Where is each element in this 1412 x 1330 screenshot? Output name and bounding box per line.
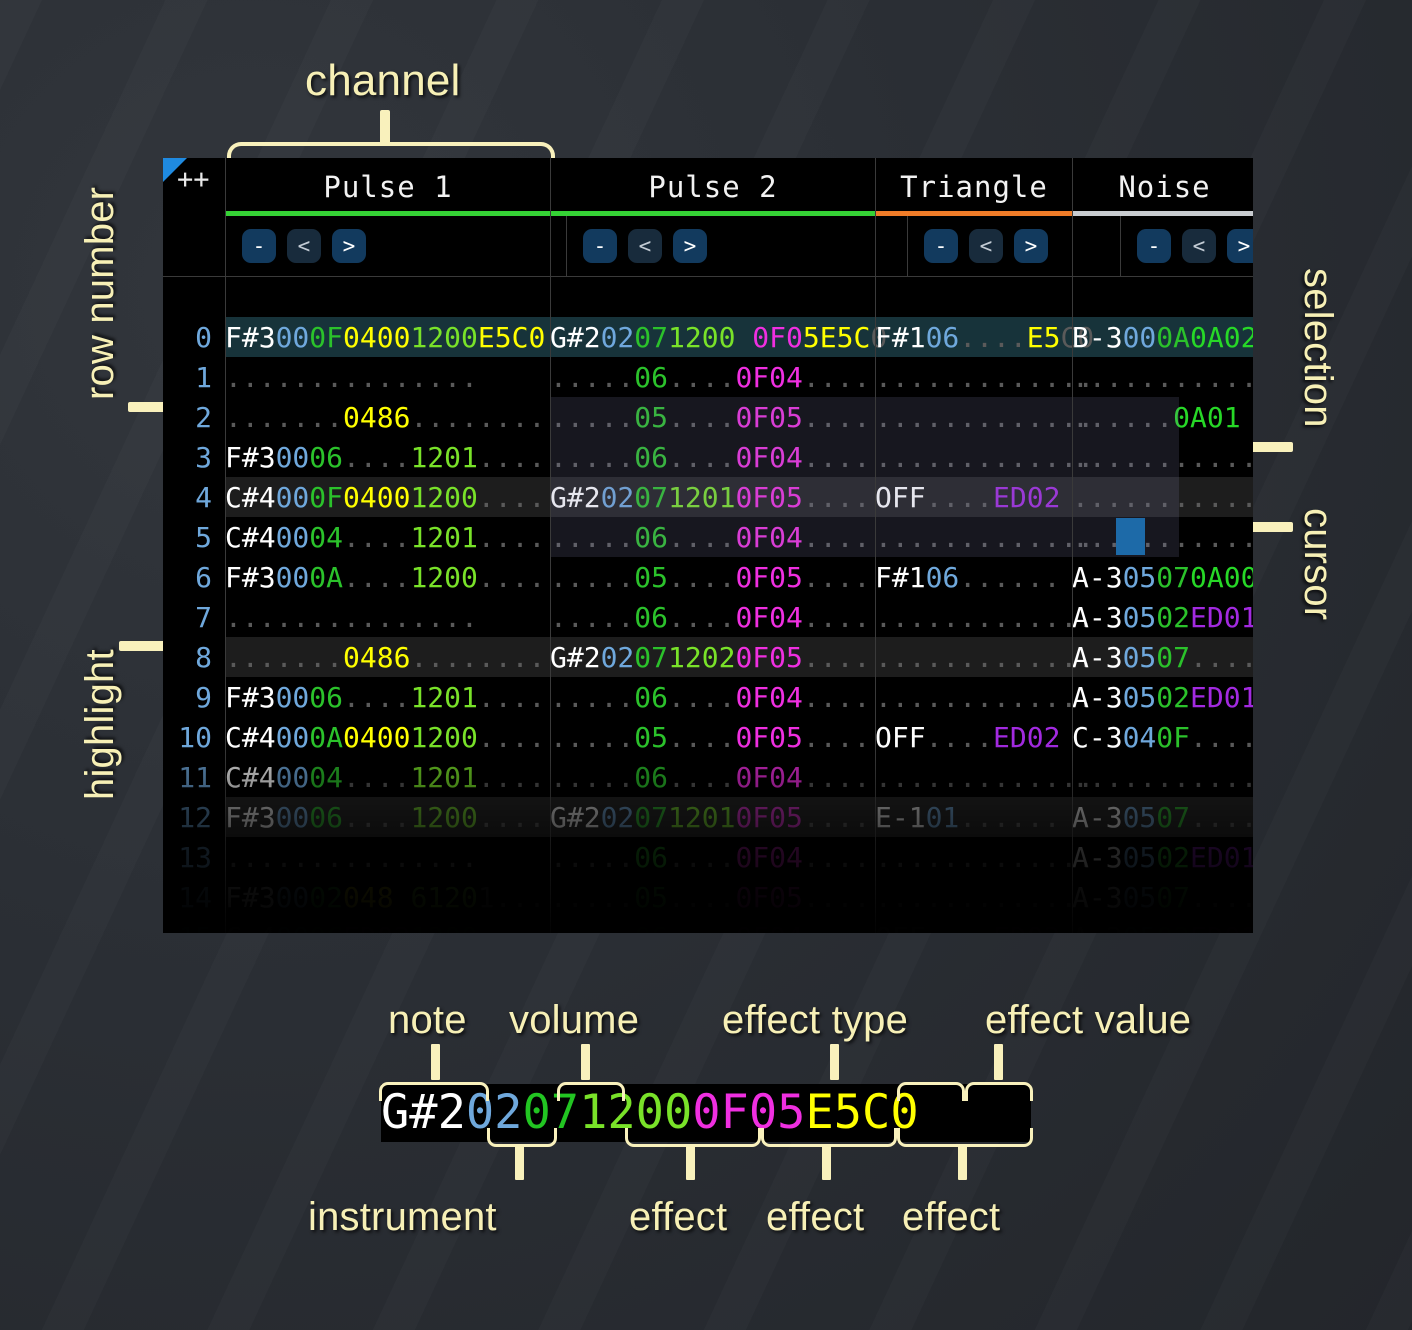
pattern-row[interactable]: 6F#3000A....1200.........05....0F05....F… xyxy=(163,557,1253,597)
cell-pulse2[interactable]: .....06....0F04.... xyxy=(550,361,875,394)
bracket-effect-value xyxy=(965,1082,1033,1101)
cell-pulse1[interactable]: .......0486........ xyxy=(225,641,550,674)
next-button-triangle[interactable]: > xyxy=(1014,229,1048,263)
bracket-note xyxy=(379,1082,489,1101)
annotation-effect1: effect xyxy=(629,1195,727,1240)
pattern-row[interactable]: 9F#30006....1201.........06....0F04.....… xyxy=(163,677,1253,717)
channel-header-row: ++ Pulse 1 Pulse 2 Triangle Noise xyxy=(163,158,1253,216)
mute-button-pulse2[interactable]: - xyxy=(583,229,617,263)
cell-triangle[interactable]: ............. xyxy=(875,521,1072,554)
button-row-corner xyxy=(163,216,226,276)
mute-button-pulse1[interactable]: - xyxy=(242,229,276,263)
tick-instrument xyxy=(515,1144,524,1180)
row-number: 7 xyxy=(163,601,225,634)
row-cells: F#30006....1201.........06....0F04......… xyxy=(225,441,1253,474)
annotation-effect-value: effect value xyxy=(985,998,1191,1043)
tick-effect2 xyxy=(822,1144,831,1180)
annotation-highlight: highlight xyxy=(78,649,123,800)
annotation-row-number: row number xyxy=(78,187,123,400)
cell-noise[interactable]: B-3000A0A02 xyxy=(1072,321,1253,354)
cell-noise[interactable]: ........... xyxy=(1072,521,1253,554)
channel-tick xyxy=(380,110,390,146)
pattern-row[interactable]: 4C#4000F04001200....G#2020712010F05....O… xyxy=(163,477,1253,517)
next-button-pulse1[interactable]: > xyxy=(332,229,366,263)
prev-button-pulse2[interactable]: < xyxy=(628,229,662,263)
cell-noise[interactable]: A-30507.... xyxy=(1072,641,1253,674)
tick-effect-type xyxy=(830,1044,839,1080)
cell-pulse1[interactable]: F#3000F04001200E5C0 xyxy=(225,321,550,354)
cell-triangle[interactable]: ............. xyxy=(875,681,1072,714)
cell-pulse2[interactable]: .....06....0F04.... xyxy=(550,681,875,714)
row-cells: .......0486........G#2020712020F05......… xyxy=(225,641,1253,674)
bottom-fade xyxy=(163,743,1253,933)
cell-pulse2[interactable]: G#2020712020F05.... xyxy=(550,641,875,674)
cell-noise[interactable]: A-30502ED01 xyxy=(1072,601,1253,634)
row-number: 4 xyxy=(163,481,225,514)
cell-pulse2[interactable]: G#2020712010F05.... xyxy=(550,481,875,514)
pattern-row[interactable]: 5C#40004....1201.........06....0F04.....… xyxy=(163,517,1253,557)
annotation-instrument: instrument xyxy=(308,1195,497,1240)
row-cells: F#30006....1201.........06....0F04......… xyxy=(225,681,1253,714)
pattern-row[interactable]: 1....................06....0F04.........… xyxy=(163,357,1253,397)
annotation-effect2: effect xyxy=(766,1195,864,1240)
cell-pulse2[interactable]: .....05....0F05.... xyxy=(550,401,875,434)
cell-pulse1[interactable]: F#3000A....1200.... xyxy=(225,561,550,594)
cell-noise[interactable]: A-30502ED01 xyxy=(1072,681,1253,714)
cell-triangle[interactable]: F#106...... xyxy=(875,561,1072,594)
channel-header-pulse2[interactable]: Pulse 2 xyxy=(551,158,876,216)
row-number: 9 xyxy=(163,681,225,714)
channel-buttons-pulse2: - < > xyxy=(567,216,908,276)
channel-name-pulse1: Pulse 1 xyxy=(323,170,452,204)
row-number: 3 xyxy=(163,441,225,474)
cell-triangle[interactable]: ............. xyxy=(875,361,1072,394)
cell-noise[interactable]: A-305070A00 xyxy=(1072,561,1253,594)
prev-button-noise[interactable]: < xyxy=(1182,229,1216,263)
tick-effect3 xyxy=(958,1144,967,1180)
channel-header-noise[interactable]: Noise xyxy=(1073,158,1253,216)
channel-button-row: - < > - < > - < > - < > xyxy=(163,216,1253,276)
cell-pulse2[interactable]: .....06....0F04.... xyxy=(550,601,875,634)
cell-pulse2[interactable]: .....06....0F04.... xyxy=(550,521,875,554)
prev-button-triangle[interactable]: < xyxy=(969,229,1003,263)
annotation-selection: selection xyxy=(1295,268,1340,428)
cell-pulse1[interactable]: C#40004....1201.... xyxy=(225,521,550,554)
tick-volume xyxy=(581,1044,590,1080)
annotation-channel: channel xyxy=(305,56,461,106)
row-cells: C#4000F04001200....G#2020712010F05....OF… xyxy=(225,481,1253,514)
next-button-noise[interactable]: > xyxy=(1227,229,1253,263)
row-cells: F#3000A....1200.........05....0F05....F#… xyxy=(225,561,1253,594)
cell-triangle[interactable]: ............. xyxy=(875,401,1072,434)
cell-triangle[interactable]: F#106....E5C0 xyxy=(875,321,1072,354)
cell-noise[interactable]: ........... xyxy=(1072,441,1253,474)
bracket-volume xyxy=(557,1082,625,1101)
cell-noise[interactable]: ........... xyxy=(1072,481,1253,514)
channel-buttons-triangle: - < > xyxy=(908,216,1121,276)
row-cells: .......0486.............05....0F05......… xyxy=(225,401,1253,434)
cell-noise[interactable]: ........... xyxy=(1072,361,1253,394)
cell-triangle[interactable]: ............. xyxy=(875,441,1072,474)
pattern-editor[interactable]: ++ Pulse 1 Pulse 2 Triangle Noise - < > … xyxy=(163,158,1253,933)
cell-pulse1[interactable]: F#30006....1201.... xyxy=(225,441,550,474)
pattern-row[interactable]: 8.......0486........G#2020712020F05.....… xyxy=(163,637,1253,677)
channel-header-triangle[interactable]: Triangle xyxy=(876,158,1073,216)
header-gap xyxy=(163,277,1253,317)
next-button-pulse2[interactable]: > xyxy=(673,229,707,263)
row-cells: C#40004....1201.........06....0F04......… xyxy=(225,521,1253,554)
cell-pulse2[interactable]: .....06....0F04.... xyxy=(550,441,875,474)
channel-name-pulse2: Pulse 2 xyxy=(648,170,777,204)
row-number: 2 xyxy=(163,401,225,434)
mute-button-noise[interactable]: - xyxy=(1137,229,1171,263)
corner-cell: ++ xyxy=(163,158,226,216)
pattern-row[interactable]: 7....................06....0F04.........… xyxy=(163,597,1253,637)
row-cells: ....................06....0F04..........… xyxy=(225,601,1253,634)
annotation-note: note xyxy=(388,998,467,1043)
row-number: 5 xyxy=(163,521,225,554)
row-cells: ....................06....0F04..........… xyxy=(225,361,1253,394)
channel-color-bar-pulse1 xyxy=(226,211,550,216)
cell-pulse1[interactable]: .......0486........ xyxy=(225,401,550,434)
cell-pulse1[interactable]: ............... xyxy=(225,601,550,634)
bracket-effect-type xyxy=(897,1082,965,1101)
cell-noise[interactable]: ......0A01 xyxy=(1072,401,1253,434)
annotation-effect3: effect xyxy=(902,1195,1000,1240)
channel-color-bar-pulse2 xyxy=(551,211,875,216)
annotation-cursor: cursor xyxy=(1295,508,1340,620)
pattern-row[interactable]: 2.......0486.............05....0F05.....… xyxy=(163,397,1253,437)
prev-button-pulse1[interactable]: < xyxy=(287,229,321,263)
channel-header-pulse1[interactable]: Pulse 1 xyxy=(226,158,551,216)
mute-button-triangle[interactable]: - xyxy=(924,229,958,263)
channel-buttons-noise: - < > xyxy=(1121,216,1253,276)
row-cells: F#3000F04001200E5C0G#202071200 0F05E5C0F… xyxy=(225,321,1253,354)
cell-pulse1[interactable]: C#4000F04001200.... xyxy=(225,481,550,514)
tick-effect1 xyxy=(686,1144,695,1180)
row-number: 8 xyxy=(163,641,225,674)
tick-note xyxy=(431,1044,440,1080)
cell-triangle[interactable]: ............. xyxy=(875,641,1072,674)
channel-color-bar-noise xyxy=(1073,211,1253,216)
cell-triangle[interactable]: OFF....ED02 xyxy=(875,481,1072,514)
cell-triangle[interactable]: ............. xyxy=(875,601,1072,634)
cell-pulse2[interactable]: .....05....0F05.... xyxy=(550,561,875,594)
cell-pulse1[interactable]: F#30006....1201.... xyxy=(225,681,550,714)
corner-label: ++ xyxy=(177,164,210,195)
row-number: 0 xyxy=(163,321,225,354)
cell-pulse1[interactable]: ............... xyxy=(225,361,550,394)
channel-buttons-pulse1: - < > xyxy=(226,216,567,276)
annotation-effect-type: effect type xyxy=(722,998,908,1043)
pattern-row[interactable]: 0F#3000F04001200E5C0G#202071200 0F05E5C0… xyxy=(163,317,1253,357)
channel-color-bar-triangle xyxy=(876,211,1072,216)
row-number: 6 xyxy=(163,561,225,594)
pattern-row[interactable]: 3F#30006....1201.........06....0F04.....… xyxy=(163,437,1253,477)
channel-name-noise: Noise xyxy=(1118,170,1210,204)
tick-effect-value xyxy=(994,1044,1003,1080)
cell-pulse2[interactable]: G#202071200 0F05E5C0 xyxy=(550,321,875,354)
annotation-volume: volume xyxy=(509,998,639,1043)
row-number: 1 xyxy=(163,361,225,394)
channel-name-triangle: Triangle xyxy=(900,170,1048,204)
